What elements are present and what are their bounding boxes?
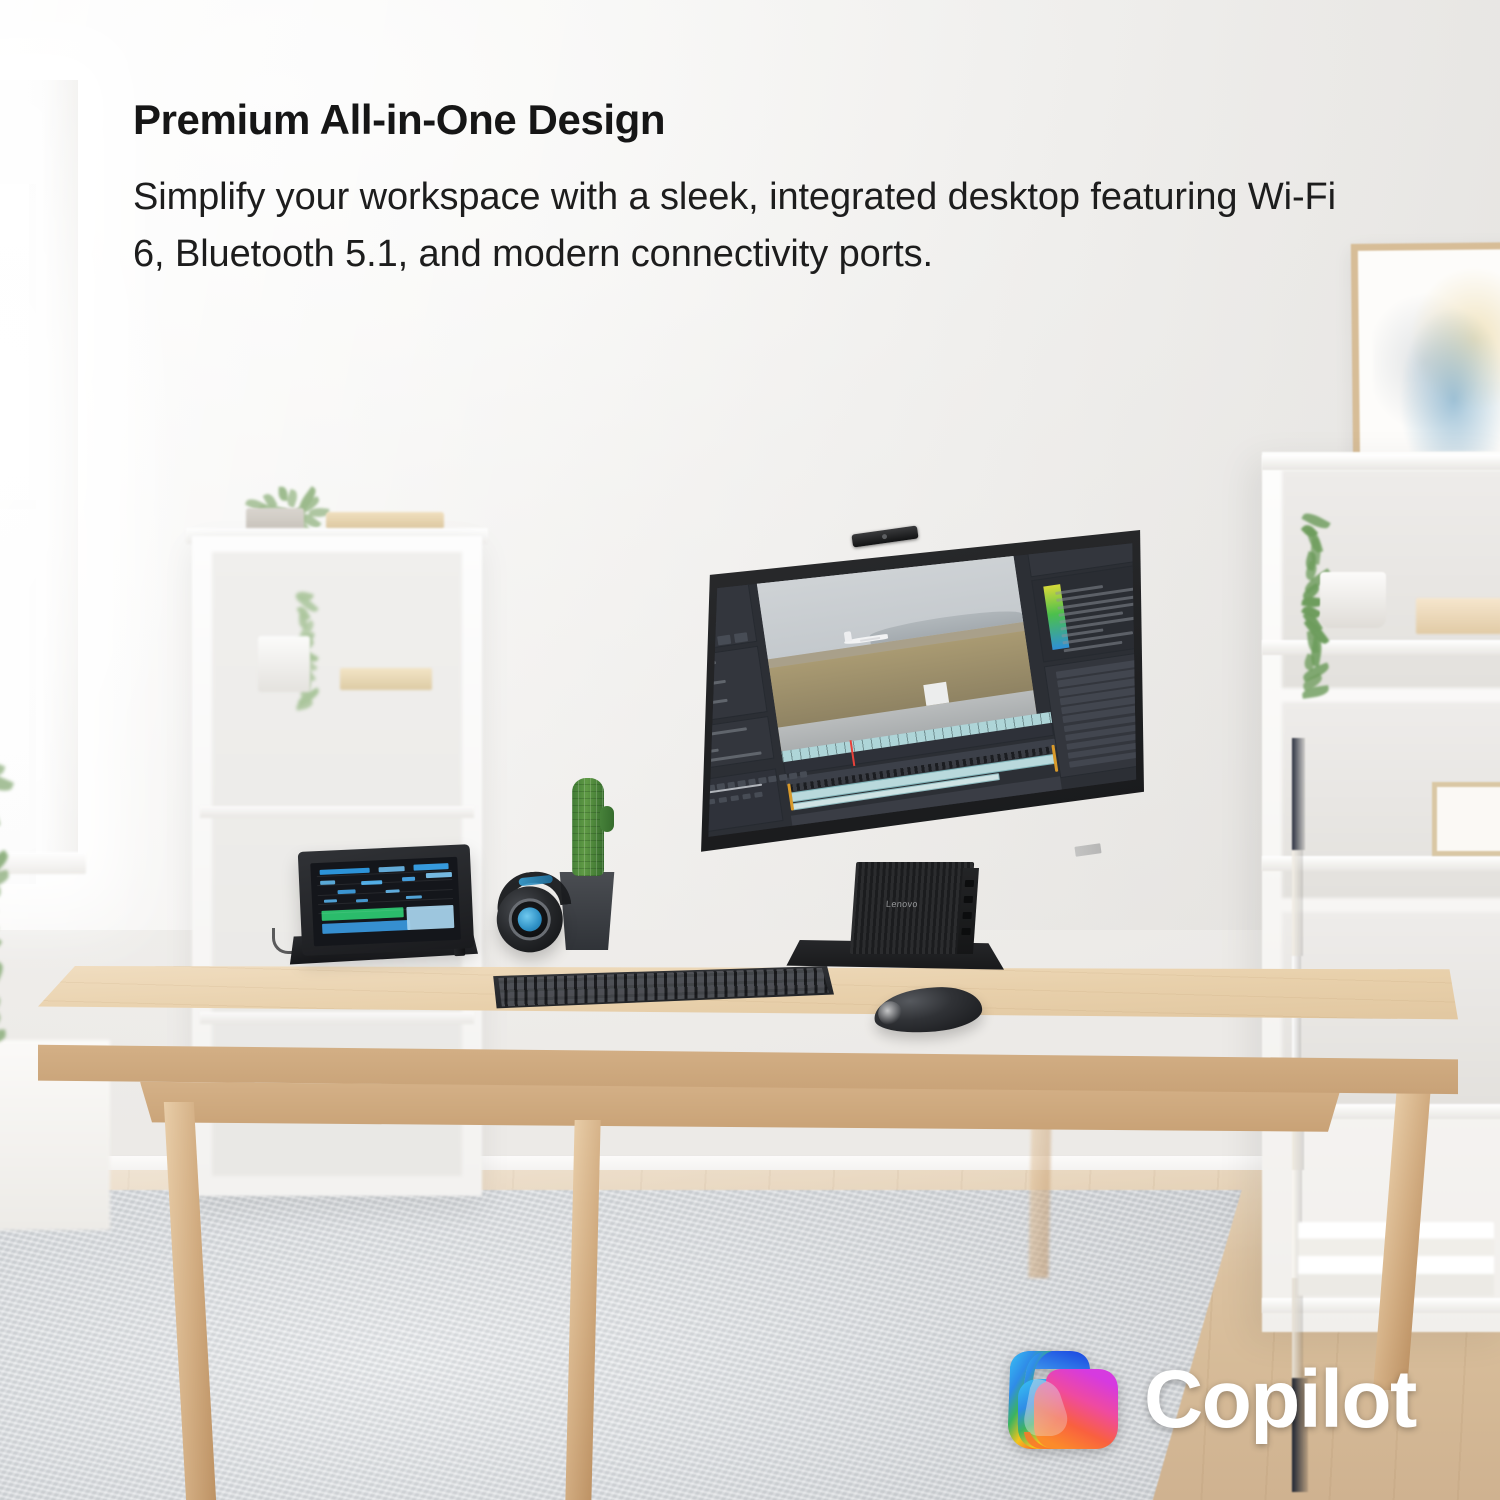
timeline-tool-button xyxy=(670,804,679,811)
bookshelf-left-vase xyxy=(258,636,310,692)
copilot-branding: Copilot xyxy=(1000,1330,1460,1470)
title-text-run xyxy=(654,551,717,572)
tablet-clip xyxy=(322,920,411,933)
book-spine xyxy=(1292,850,1303,956)
tablet-clip xyxy=(425,872,452,878)
plant-leaf xyxy=(0,869,11,893)
tablet-clip xyxy=(413,863,448,870)
system-tray-icon xyxy=(1060,851,1066,859)
title-text-run xyxy=(782,532,844,550)
shelf-board xyxy=(1262,455,1500,470)
preview-ground-object xyxy=(923,682,949,706)
menu-item xyxy=(882,543,908,553)
shelf-board xyxy=(1262,640,1500,655)
panel-row xyxy=(654,661,716,674)
small-framed-print xyxy=(1432,782,1500,856)
plant-leaf xyxy=(278,486,288,501)
tablet-track-line xyxy=(318,898,453,905)
plant-leaf xyxy=(0,923,2,953)
tablet-device[interactable] xyxy=(298,844,475,956)
mouse-highlight xyxy=(877,1000,903,1026)
menu-item xyxy=(841,549,872,559)
over-ear-headphones[interactable] xyxy=(488,868,578,956)
body-text: Simplify your workspace with a sleek, in… xyxy=(133,169,1343,285)
cactus-arm xyxy=(600,806,614,832)
tool-button xyxy=(654,645,661,656)
bookshelf-left-books xyxy=(340,668,432,690)
panel-row xyxy=(654,673,700,683)
timeline-tool-button xyxy=(682,802,691,809)
cactus-spines xyxy=(572,778,604,876)
taskbar-clock xyxy=(1122,837,1144,851)
title-text-run xyxy=(726,543,773,558)
tablet-display[interactable] xyxy=(310,857,461,947)
color-swatch xyxy=(665,786,693,797)
copilot-ribbon-icon xyxy=(1000,1336,1128,1464)
tablet-track-line xyxy=(317,879,452,886)
floor-plant-left xyxy=(0,760,130,980)
tool-button xyxy=(664,642,678,653)
project-bin-panel xyxy=(654,716,774,776)
promo-image-canvas: Lenovo Premium All-in-One Design Simplif… xyxy=(0,0,1500,1500)
mixer-knob xyxy=(1142,658,1144,666)
plant-leaf xyxy=(286,489,300,508)
webcam-lens-icon xyxy=(882,534,888,540)
tool-button xyxy=(681,640,695,651)
menu-item xyxy=(678,572,715,583)
copilot-wordmark: Copilot xyxy=(1144,1359,1416,1441)
thumbnail-preview xyxy=(654,597,715,633)
menu-item xyxy=(654,579,668,589)
timeline-tool-button xyxy=(694,800,703,807)
framed-artwork xyxy=(1351,242,1500,474)
timeline-tool-button xyxy=(789,773,797,780)
book-spine xyxy=(1292,738,1305,850)
panel-row xyxy=(655,693,700,702)
shelf-storage-box xyxy=(1416,598,1500,634)
shelf-books xyxy=(1292,738,1426,854)
plant-leaf xyxy=(0,887,2,904)
all-in-one-monitor xyxy=(648,522,1148,992)
timeline-tool-button xyxy=(799,771,807,778)
panel-row xyxy=(662,742,703,751)
bookshelf-left-divider xyxy=(200,806,474,818)
cactus-plant xyxy=(572,778,604,876)
bookshelf-left-divider xyxy=(200,1012,474,1024)
tablet-clip xyxy=(378,867,405,872)
marketing-copy-block: Premium All-in-One Design Simplify your … xyxy=(133,98,1363,284)
artwork-canvas xyxy=(1372,263,1500,452)
page-title: Premium All-in-One Design xyxy=(133,98,1363,143)
shelf-pot-right xyxy=(1320,572,1386,628)
menu-item xyxy=(917,537,948,547)
airplane-tail xyxy=(843,632,851,642)
